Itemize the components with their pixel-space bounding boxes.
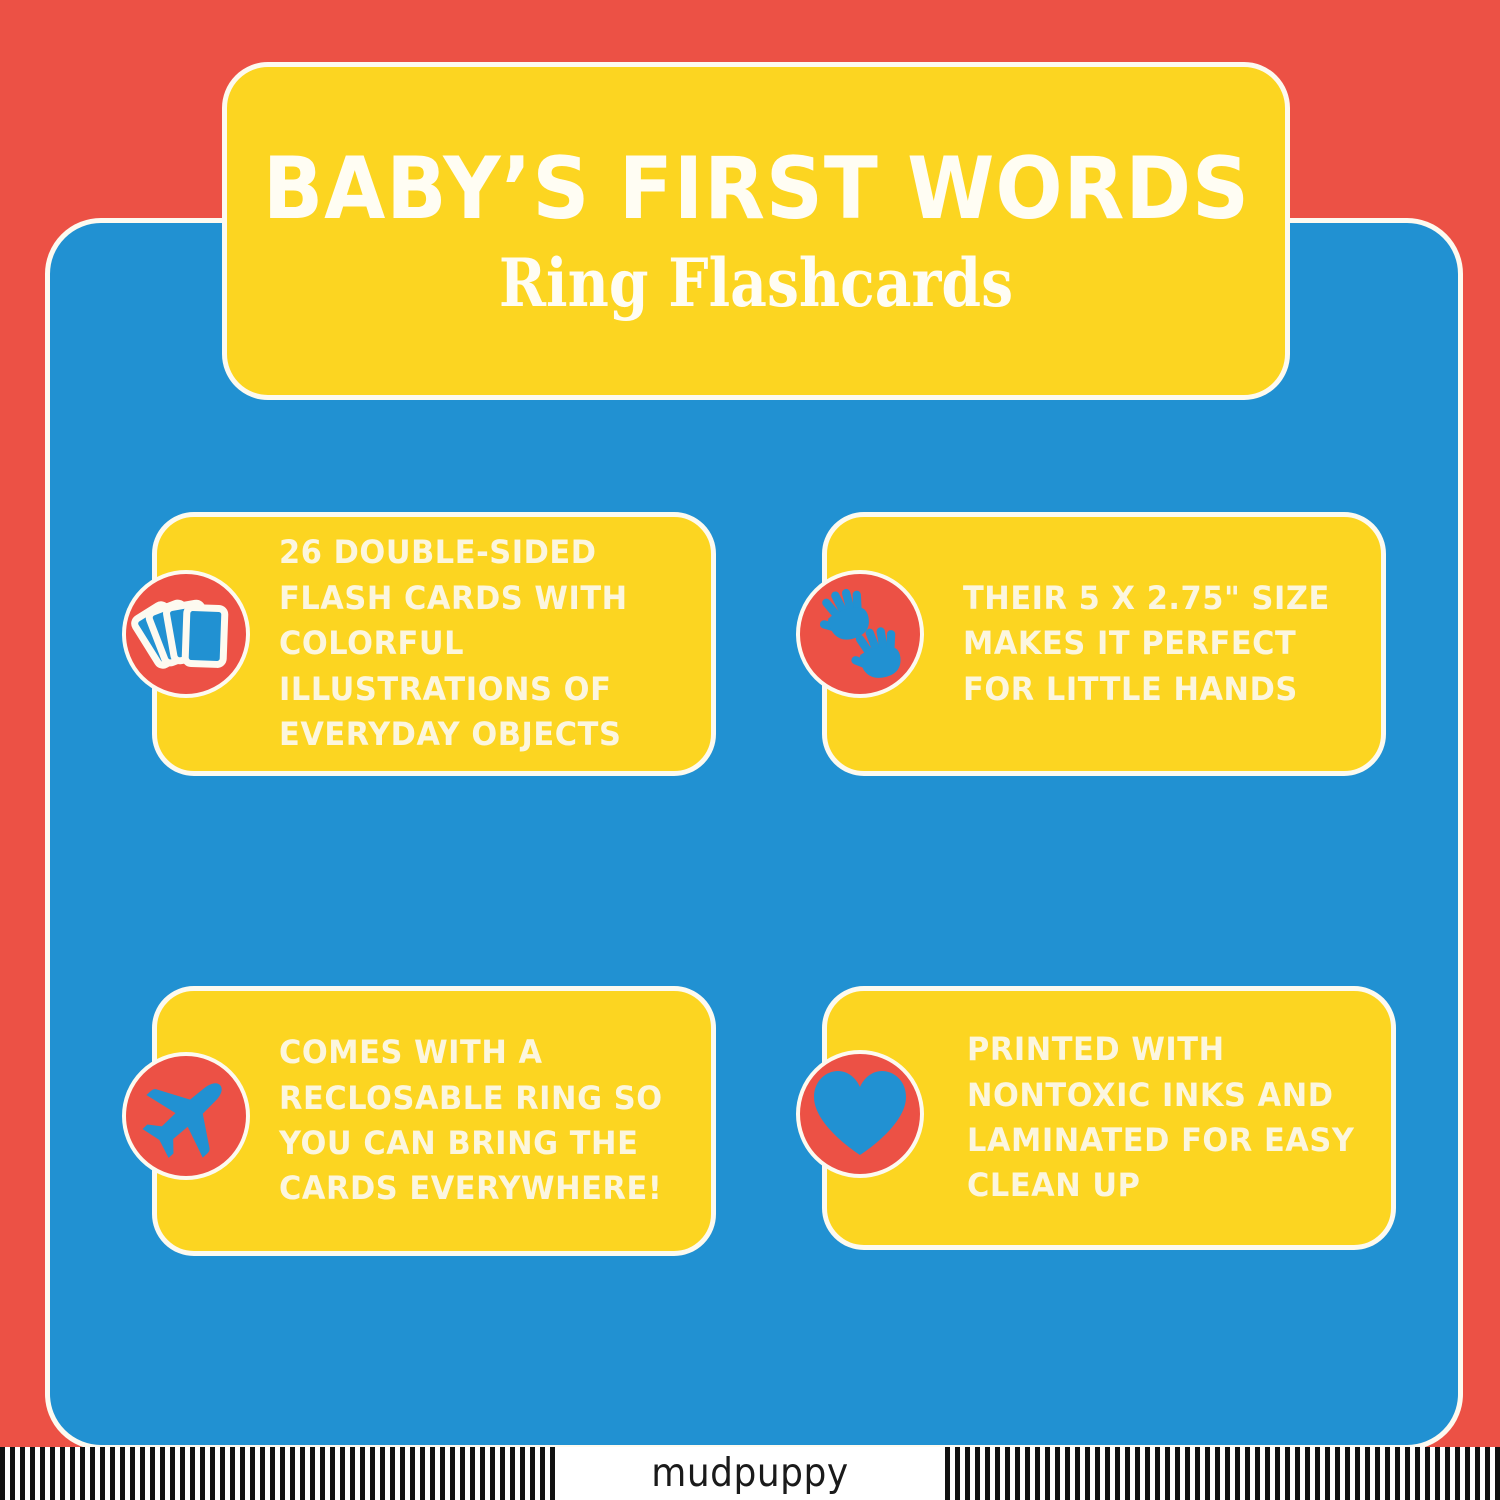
brand-logo-box: mudpuppy [555, 1447, 945, 1500]
stripe-pattern-left [0, 1447, 555, 1500]
title-card: BABY’S FIRST WORDS Ring Flashcards [222, 62, 1290, 400]
airplane-icon [122, 1052, 250, 1180]
product-feature-poster: BABY’S FIRST WORDS Ring Flashcards 26 DO… [0, 0, 1500, 1500]
feature-text: COMES WITH A RECLOSABLE RING SO YOU CAN … [279, 1030, 678, 1212]
flashcard-stack-icon [122, 570, 250, 698]
stripe-pattern-right [945, 1447, 1500, 1500]
footer: mudpuppy [0, 1447, 1500, 1500]
feature-text: THEIR 5 X 2.75" SIZE MAKES IT PERFECT FO… [963, 576, 1360, 712]
main-blue-panel [45, 218, 1463, 1450]
brand-name: mudpuppy [651, 1451, 848, 1495]
page-subtitle: Ring Flashcards [499, 250, 1013, 316]
baby-hands-icon [796, 570, 924, 698]
feature-text: 26 DOUBLE-SIDED FLASH CARDS WITH COLORFU… [279, 530, 688, 757]
feature-text: PRINTED WITH NONTOXIC INKS AND LAMINATED… [967, 1027, 1370, 1209]
page-title: BABY’S FIRST WORDS [263, 146, 1250, 232]
heart-icon [796, 1050, 924, 1178]
